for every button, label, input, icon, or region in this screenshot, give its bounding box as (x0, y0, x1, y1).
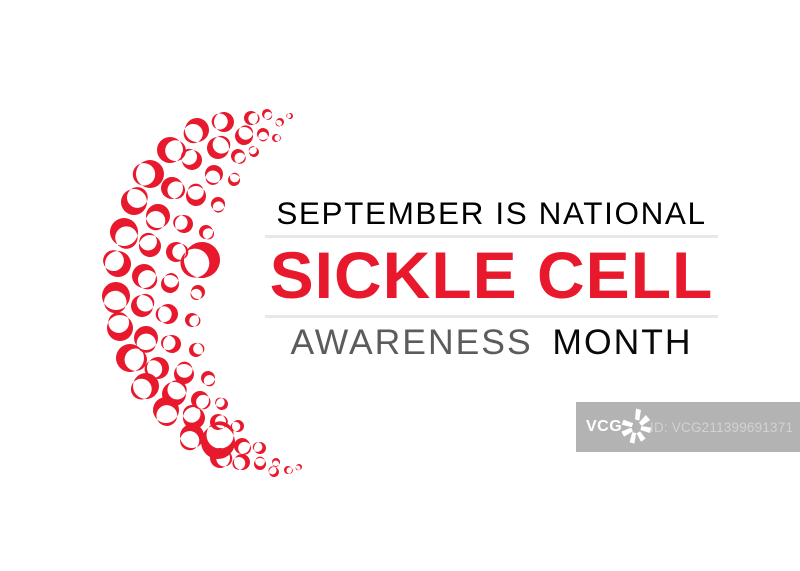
headline-word-month: MONTH (552, 322, 692, 362)
sickle-cell-crescent (247, 145, 260, 159)
sickle-cell-crescent (98, 243, 136, 282)
sickle-cell-crescent (271, 457, 282, 468)
sickle-cell-crescent (107, 312, 133, 341)
sickle-cell-crescent (228, 146, 248, 166)
sickle-cell-crescent (171, 359, 197, 387)
sickle-cell-crescent (199, 369, 217, 388)
sickle-cell-crescent (128, 260, 162, 295)
sickle-cell-crescent (210, 196, 225, 213)
headline-line-sickle-cell: SICKLE CELL (265, 238, 718, 315)
sickle-cell-crescent (108, 216, 141, 251)
sickle-cell-crescent (253, 455, 268, 471)
sickle-cell-crescent (294, 463, 303, 472)
sickle-cell-crescent (213, 395, 231, 413)
headline-line-september-is-national: SEPTEMBER IS NATIONAL (265, 198, 718, 235)
sickle-cell-crescent (209, 108, 237, 134)
sickle-cell-crescent (267, 464, 281, 479)
vcg-image-id-text: ID: VCG211399691371 (650, 420, 793, 435)
sickle-cell-crescent (251, 439, 269, 456)
sickle-cell-crescent (158, 270, 184, 296)
headline-line-awareness-month: AWARENESS MONTH (265, 318, 718, 361)
sickle-cell-crescent (203, 132, 235, 163)
sickle-cell-crescent (127, 290, 159, 321)
sickle-cell-crescent (231, 453, 251, 472)
sickle-cell-crescent (188, 342, 206, 358)
sickle-cell-crescent (177, 144, 205, 173)
sickle-cell-crescent (170, 210, 197, 236)
vcg-starburst-icon (617, 407, 657, 447)
sickle-cell-awareness-poster: SEPTEMBER IS NATIONAL SICKLE CELL AWAREN… (0, 0, 800, 571)
sickle-cell-crescent (274, 117, 286, 128)
sickle-cell-crescent (154, 302, 179, 326)
sickle-cell-crescent (184, 182, 208, 207)
sickle-cell-crescent (286, 112, 294, 120)
sickle-cell-crescent (127, 369, 163, 403)
sickle-cell-crescent (139, 199, 175, 235)
vcg-logo: VCG (576, 402, 654, 452)
sickle-cell-crescent (178, 114, 213, 148)
sickle-cell-crescent (182, 310, 202, 330)
sickle-cell-crescent (231, 122, 258, 149)
sickle-cell-crescent (256, 127, 270, 142)
sickle-cell-crescent (97, 278, 134, 317)
sickle-cell-crescent (158, 331, 184, 357)
sickle-cell-crescent (201, 162, 227, 188)
sickle-cell-crescent (137, 231, 163, 259)
sickle-cell-crescent (164, 240, 189, 264)
sickle-cell-crescent (196, 222, 217, 243)
headline-word-awareness: AWARENESS (290, 322, 532, 362)
sickle-cell-crescent (131, 157, 166, 190)
sickle-cell-crescent (153, 133, 189, 167)
sickle-cell-crescent (226, 171, 243, 189)
sickle-cell-crescent (242, 109, 262, 128)
sickle-cell-crescent (187, 282, 208, 303)
headline-text-block: SEPTEMBER IS NATIONAL SICKLE CELL AWAREN… (265, 198, 718, 360)
sickle-cell-crescent (261, 108, 274, 122)
sickle-cell-crescent (283, 465, 295, 476)
sickle-cell-crescent (132, 324, 160, 354)
vcg-watermark: VCG ID: VCG211399691371 (576, 402, 800, 452)
sickle-cell-crescent (271, 133, 282, 143)
